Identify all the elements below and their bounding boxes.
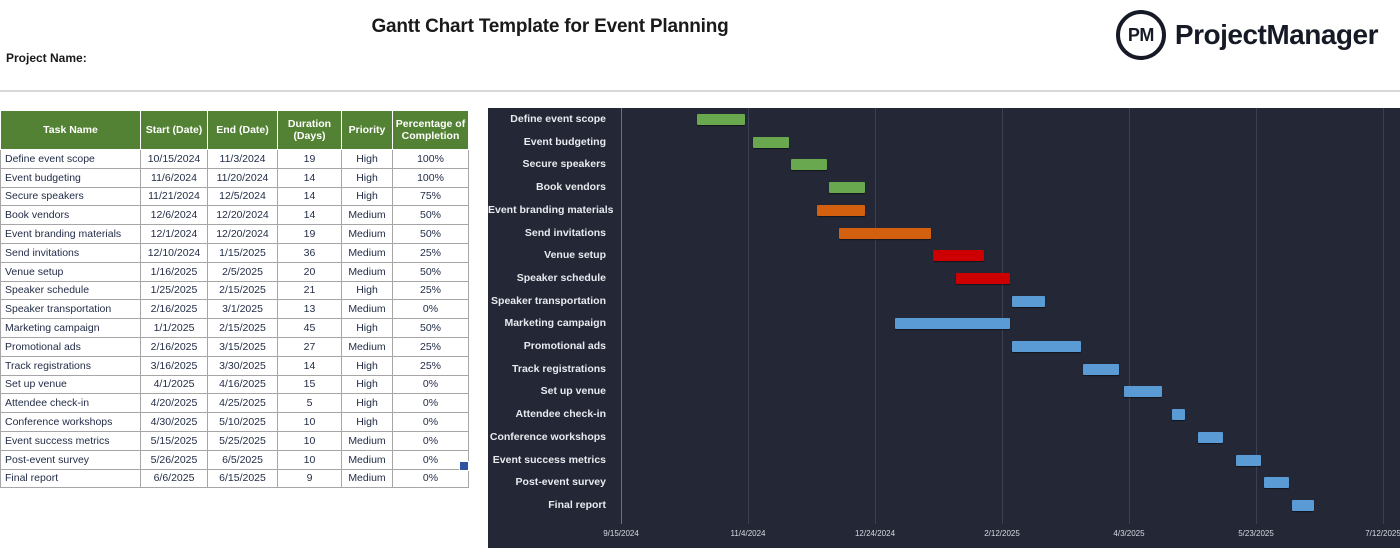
table-row[interactable]: Set up venue4/1/20254/16/202515High0% bbox=[1, 375, 469, 394]
table-row[interactable]: Speaker transportation2/16/20253/1/20251… bbox=[1, 300, 469, 319]
cell-start[interactable]: 2/16/2025 bbox=[141, 300, 208, 319]
gantt-task-label: Speaker transportation bbox=[488, 290, 614, 313]
cell-start[interactable]: 5/15/2025 bbox=[141, 431, 208, 450]
pm-circle-icon: PM bbox=[1116, 10, 1166, 60]
cell-end[interactable]: 4/25/2025 bbox=[208, 394, 278, 413]
cell-end[interactable]: 12/20/2024 bbox=[208, 225, 278, 244]
gantt-bar[interactable] bbox=[1264, 477, 1289, 488]
cell-task[interactable]: Attendee check-in bbox=[1, 394, 141, 413]
x-axis-tick-label: 11/4/2024 bbox=[731, 529, 766, 538]
cell-task[interactable]: Post-event survey bbox=[1, 450, 141, 469]
gantt-bar[interactable] bbox=[895, 318, 1009, 329]
cell-priority[interactable]: High bbox=[342, 187, 393, 206]
gantt-task-label: Speaker schedule bbox=[488, 267, 614, 290]
gantt-bar[interactable] bbox=[829, 182, 865, 193]
page-title: Gantt Chart Template for Event Planning bbox=[0, 16, 1100, 38]
gantt-row[interactable]: Send invitations bbox=[488, 222, 1400, 245]
gantt-plot-area: Define event scopeEvent budgetingSecure … bbox=[488, 108, 1400, 524]
cell-priority[interactable]: High bbox=[342, 150, 393, 169]
gantt-bar[interactable] bbox=[1198, 432, 1223, 443]
gantt-row[interactable]: Promotional ads bbox=[488, 335, 1400, 358]
gantt-bar[interactable] bbox=[1012, 341, 1081, 352]
gantt-task-label: Event success metrics bbox=[488, 449, 614, 472]
gantt-bar[interactable] bbox=[791, 159, 827, 170]
gantt-bar[interactable] bbox=[1124, 386, 1162, 397]
cell-duration[interactable]: 10 bbox=[278, 431, 342, 450]
cell-task[interactable]: Marketing campaign bbox=[1, 319, 141, 338]
cell-duration[interactable]: 21 bbox=[278, 281, 342, 300]
gantt-bar[interactable] bbox=[933, 250, 984, 261]
table-row[interactable]: Define event scope10/15/202411/3/202419H… bbox=[1, 150, 469, 169]
cell-end[interactable]: 3/1/2025 bbox=[208, 300, 278, 319]
cell-priority[interactable]: High bbox=[342, 413, 393, 432]
cell-duration[interactable]: 45 bbox=[278, 319, 342, 338]
gantt-task-label: Conference workshops bbox=[488, 426, 614, 449]
gantt-bar[interactable] bbox=[697, 114, 745, 125]
cell-pct[interactable]: 0% bbox=[393, 375, 469, 394]
gantt-row[interactable]: Secure speakers bbox=[488, 153, 1400, 176]
cell-end[interactable]: 2/15/2025 bbox=[208, 281, 278, 300]
cell-duration[interactable]: 10 bbox=[278, 413, 342, 432]
cell-start[interactable]: 1/16/2025 bbox=[141, 262, 208, 281]
cell-duration[interactable]: 20 bbox=[278, 262, 342, 281]
x-axis-tick-label: 9/15/2024 bbox=[603, 529, 639, 538]
x-axis-tick-label: 12/24/2024 bbox=[855, 529, 895, 538]
cell-duration[interactable]: 14 bbox=[278, 187, 342, 206]
cell-task[interactable]: Conference workshops bbox=[1, 413, 141, 432]
cell-start[interactable]: 5/26/2025 bbox=[141, 450, 208, 469]
column-header-percentage[interactable]: Percentage of Completion bbox=[393, 111, 469, 150]
gantt-row[interactable]: Event branding materials bbox=[488, 199, 1400, 222]
cell-task[interactable]: Final report bbox=[1, 469, 141, 488]
gantt-task-label: Set up venue bbox=[488, 380, 614, 403]
cell-priority[interactable]: Medium bbox=[342, 206, 393, 225]
cell-start[interactable]: 3/16/2025 bbox=[141, 356, 208, 375]
cell-end[interactable]: 2/5/2025 bbox=[208, 262, 278, 281]
pm-monogram: PM bbox=[1128, 25, 1154, 46]
gantt-row[interactable]: Event budgeting bbox=[488, 131, 1400, 154]
gantt-bar[interactable] bbox=[1083, 364, 1119, 375]
table-row[interactable]: Final report6/6/20256/15/20259Medium0% bbox=[1, 469, 469, 488]
gantt-task-label: Post-event survey bbox=[488, 471, 614, 494]
cell-task[interactable]: Event budgeting bbox=[1, 168, 141, 187]
x-axis-tick-label: 2/12/2025 bbox=[984, 529, 1020, 538]
gantt-row[interactable]: Speaker transportation bbox=[488, 290, 1400, 313]
gantt-row[interactable]: Final report bbox=[488, 494, 1400, 517]
cell-start[interactable]: 6/6/2025 bbox=[141, 469, 208, 488]
cell-start[interactable]: 12/10/2024 bbox=[141, 243, 208, 262]
cell-priority[interactable]: High bbox=[342, 356, 393, 375]
gantt-bar[interactable] bbox=[817, 205, 865, 216]
cell-start[interactable]: 4/20/2025 bbox=[141, 394, 208, 413]
cell-pct[interactable]: 100% bbox=[393, 150, 469, 169]
table-row[interactable]: Post-event survey5/26/20256/5/202510Medi… bbox=[1, 450, 469, 469]
project-name-label: Project Name: bbox=[6, 51, 87, 65]
column-header-start-date[interactable]: Start (Date) bbox=[141, 111, 208, 150]
cell-pct[interactable]: 0% bbox=[393, 300, 469, 319]
cell-priority[interactable]: Medium bbox=[342, 262, 393, 281]
gantt-bar[interactable] bbox=[839, 228, 930, 239]
gantt-task-label: Promotional ads bbox=[488, 335, 614, 358]
cell-priority[interactable]: High bbox=[342, 168, 393, 187]
cell-task[interactable]: Promotional ads bbox=[1, 337, 141, 356]
cell-start[interactable]: 12/1/2024 bbox=[141, 225, 208, 244]
cell-pct[interactable]: 0% bbox=[393, 450, 469, 469]
gantt-bar[interactable] bbox=[1172, 409, 1185, 420]
cell-start[interactable]: 4/30/2025 bbox=[141, 413, 208, 432]
cell-priority[interactable]: High bbox=[342, 281, 393, 300]
gantt-row[interactable]: Attendee check-in bbox=[488, 403, 1400, 426]
cell-duration[interactable]: 9 bbox=[278, 469, 342, 488]
gantt-row[interactable]: Conference workshops bbox=[488, 426, 1400, 449]
cell-start[interactable]: 11/6/2024 bbox=[141, 168, 208, 187]
gantt-task-label: Track registrations bbox=[488, 358, 614, 381]
cell-end[interactable]: 4/16/2025 bbox=[208, 375, 278, 394]
cell-duration[interactable]: 14 bbox=[278, 356, 342, 375]
table-row[interactable]: Secure speakers11/21/202412/5/202414High… bbox=[1, 187, 469, 206]
cell-duration[interactable]: 13 bbox=[278, 300, 342, 319]
cell-task[interactable]: Book vendors bbox=[1, 206, 141, 225]
cell-priority[interactable]: Medium bbox=[342, 337, 393, 356]
x-axis-tick-label: 5/23/2025 bbox=[1238, 529, 1274, 538]
x-axis-tick-label: 7/12/2025 bbox=[1365, 529, 1400, 538]
table-row[interactable]: Event success metrics5/15/20255/25/20251… bbox=[1, 431, 469, 450]
cell-pct[interactable]: 75% bbox=[393, 187, 469, 206]
cell-pct[interactable]: 50% bbox=[393, 262, 469, 281]
cell-priority[interactable]: High bbox=[342, 375, 393, 394]
cell-end[interactable]: 12/5/2024 bbox=[208, 187, 278, 206]
gantt-task-label: Event budgeting bbox=[488, 131, 614, 154]
column-header-end-date[interactable]: End (Date) bbox=[208, 111, 278, 150]
cell-priority[interactable]: Medium bbox=[342, 300, 393, 319]
gantt-bar[interactable] bbox=[1292, 500, 1315, 511]
table-row[interactable]: Event budgeting11/6/202411/20/202414High… bbox=[1, 168, 469, 187]
cell-start[interactable]: 1/1/2025 bbox=[141, 319, 208, 338]
gantt-task-label: Venue setup bbox=[488, 244, 614, 267]
cell-task[interactable]: Speaker transportation bbox=[1, 300, 141, 319]
cell-task[interactable]: Event branding materials bbox=[1, 225, 141, 244]
cell-duration[interactable]: 36 bbox=[278, 243, 342, 262]
column-header-priority[interactable]: Priority bbox=[342, 111, 393, 150]
gantt-task-label: Send invitations bbox=[488, 222, 614, 245]
cell-duration[interactable]: 14 bbox=[278, 168, 342, 187]
gantt-chart[interactable]: Define event scopeEvent budgetingSecure … bbox=[488, 108, 1400, 548]
x-axis-tick-label: 4/3/2025 bbox=[1113, 529, 1144, 538]
table-row[interactable]: Conference workshops4/30/20255/10/202510… bbox=[1, 413, 469, 432]
gantt-row[interactable]: Track registrations bbox=[488, 358, 1400, 381]
cell-start[interactable]: 10/15/2024 bbox=[141, 150, 208, 169]
cell-duration[interactable]: 14 bbox=[278, 206, 342, 225]
cell-end[interactable]: 1/15/2025 bbox=[208, 243, 278, 262]
column-header-task-name[interactable]: Task Name bbox=[1, 111, 141, 150]
cell-start[interactable]: 4/1/2025 bbox=[141, 375, 208, 394]
gantt-task-label: Define event scope bbox=[488, 108, 614, 131]
table-row[interactable]: Promotional ads2/16/20253/15/202527Mediu… bbox=[1, 337, 469, 356]
cell-start[interactable]: 11/21/2024 bbox=[141, 187, 208, 206]
gantt-x-axis: 9/15/202411/4/202412/24/20242/12/20254/3… bbox=[488, 524, 1400, 548]
cell-duration[interactable]: 19 bbox=[278, 225, 342, 244]
cell-task[interactable]: Set up venue bbox=[1, 375, 141, 394]
cell-pct[interactable]: 0% bbox=[393, 469, 469, 488]
cell-duration[interactable]: 19 bbox=[278, 150, 342, 169]
cell-duration[interactable]: 10 bbox=[278, 450, 342, 469]
cell-pct[interactable]: 50% bbox=[393, 319, 469, 338]
cell-start[interactable]: 2/16/2025 bbox=[141, 337, 208, 356]
gantt-task-label: Final report bbox=[488, 494, 614, 517]
cell-end[interactable]: 11/3/2024 bbox=[208, 150, 278, 169]
table-resize-handle[interactable] bbox=[459, 461, 469, 471]
cell-priority[interactable]: Medium bbox=[342, 431, 393, 450]
gantt-task-label: Attendee check-in bbox=[488, 403, 614, 426]
cell-end[interactable]: 6/5/2025 bbox=[208, 450, 278, 469]
gantt-bar[interactable] bbox=[1236, 455, 1261, 466]
cell-pct[interactable]: 25% bbox=[393, 356, 469, 375]
table-body: Define event scope10/15/202411/3/202419H… bbox=[1, 150, 469, 488]
table-row[interactable]: Venue setup1/16/20252/5/202520Medium50% bbox=[1, 262, 469, 281]
gantt-row[interactable]: Marketing campaign bbox=[488, 312, 1400, 335]
gantt-bar[interactable] bbox=[753, 137, 789, 148]
cell-end[interactable]: 6/15/2025 bbox=[208, 469, 278, 488]
gantt-task-label: Event branding materials bbox=[488, 199, 614, 222]
table-row[interactable]: Send invitations12/10/20241/15/202536Med… bbox=[1, 243, 469, 262]
table-row[interactable]: Attendee check-in4/20/20254/25/20255High… bbox=[1, 394, 469, 413]
cell-end[interactable]: 3/15/2025 bbox=[208, 337, 278, 356]
gantt-row[interactable]: Venue setup bbox=[488, 244, 1400, 267]
cell-pct[interactable]: 0% bbox=[393, 431, 469, 450]
cell-end[interactable]: 2/15/2025 bbox=[208, 319, 278, 338]
cell-task[interactable]: Speaker schedule bbox=[1, 281, 141, 300]
gantt-task-label: Marketing campaign bbox=[488, 312, 614, 335]
table-row[interactable]: Track registrations3/16/20253/30/202514H… bbox=[1, 356, 469, 375]
cell-task[interactable]: Track registrations bbox=[1, 356, 141, 375]
gantt-row[interactable]: Speaker schedule bbox=[488, 267, 1400, 290]
task-table[interactable]: Task Name Start (Date) End (Date) Durati… bbox=[0, 110, 469, 488]
gantt-row[interactable]: Post-event survey bbox=[488, 471, 1400, 494]
cell-end[interactable]: 5/25/2025 bbox=[208, 431, 278, 450]
cell-priority[interactable]: High bbox=[342, 319, 393, 338]
table-row[interactable]: Book vendors12/6/202412/20/202414Medium5… bbox=[1, 206, 469, 225]
table-row[interactable]: Speaker schedule1/25/20252/15/202521High… bbox=[1, 281, 469, 300]
table-row[interactable]: Event branding materials12/1/202412/20/2… bbox=[1, 225, 469, 244]
cell-duration[interactable]: 15 bbox=[278, 375, 342, 394]
cell-end[interactable]: 11/20/2024 bbox=[208, 168, 278, 187]
column-header-duration[interactable]: Duration (Days) bbox=[278, 111, 342, 150]
cell-pct[interactable]: 0% bbox=[393, 413, 469, 432]
cell-pct[interactable]: 25% bbox=[393, 243, 469, 262]
gantt-row[interactable]: Event success metrics bbox=[488, 449, 1400, 472]
cell-start[interactable]: 12/6/2024 bbox=[141, 206, 208, 225]
cell-start[interactable]: 1/25/2025 bbox=[141, 281, 208, 300]
cell-priority[interactable]: Medium bbox=[342, 450, 393, 469]
table-row[interactable]: Marketing campaign1/1/20252/15/202545Hig… bbox=[1, 319, 469, 338]
cell-pct[interactable]: 50% bbox=[393, 225, 469, 244]
projectmanager-logo: PM ProjectManager bbox=[1116, 10, 1378, 60]
cell-pct[interactable]: 0% bbox=[393, 394, 469, 413]
cell-priority[interactable]: Medium bbox=[342, 469, 393, 488]
cell-end[interactable]: 12/20/2024 bbox=[208, 206, 278, 225]
cell-priority[interactable]: High bbox=[342, 394, 393, 413]
table-header-row: Task Name Start (Date) End (Date) Durati… bbox=[1, 111, 469, 150]
gantt-row[interactable]: Define event scope bbox=[488, 108, 1400, 131]
page-header: Gantt Chart Template for Event Planning … bbox=[0, 0, 1400, 92]
cell-pct[interactable]: 50% bbox=[393, 206, 469, 225]
cell-duration[interactable]: 5 bbox=[278, 394, 342, 413]
cell-end[interactable]: 3/30/2025 bbox=[208, 356, 278, 375]
cell-task[interactable]: Venue setup bbox=[1, 262, 141, 281]
cell-priority[interactable]: Medium bbox=[342, 243, 393, 262]
gantt-task-label: Book vendors bbox=[488, 176, 614, 199]
cell-duration[interactable]: 27 bbox=[278, 337, 342, 356]
cell-pct[interactable]: 25% bbox=[393, 337, 469, 356]
cell-task[interactable]: Event success metrics bbox=[1, 431, 141, 450]
cell-task[interactable]: Define event scope bbox=[1, 150, 141, 169]
cell-priority[interactable]: Medium bbox=[342, 225, 393, 244]
gantt-bar[interactable] bbox=[956, 273, 1009, 284]
cell-pct[interactable]: 100% bbox=[393, 168, 469, 187]
gantt-task-label: Secure speakers bbox=[488, 153, 614, 176]
cell-end[interactable]: 5/10/2025 bbox=[208, 413, 278, 432]
gantt-axis-line bbox=[621, 108, 622, 524]
gantt-bar[interactable] bbox=[1012, 296, 1045, 307]
cell-pct[interactable]: 25% bbox=[393, 281, 469, 300]
gantt-row[interactable]: Set up venue bbox=[488, 380, 1400, 403]
cell-task[interactable]: Secure speakers bbox=[1, 187, 141, 206]
cell-task[interactable]: Send invitations bbox=[1, 243, 141, 262]
gantt-row[interactable]: Book vendors bbox=[488, 176, 1400, 199]
logo-wordmark: ProjectManager bbox=[1175, 19, 1378, 51]
